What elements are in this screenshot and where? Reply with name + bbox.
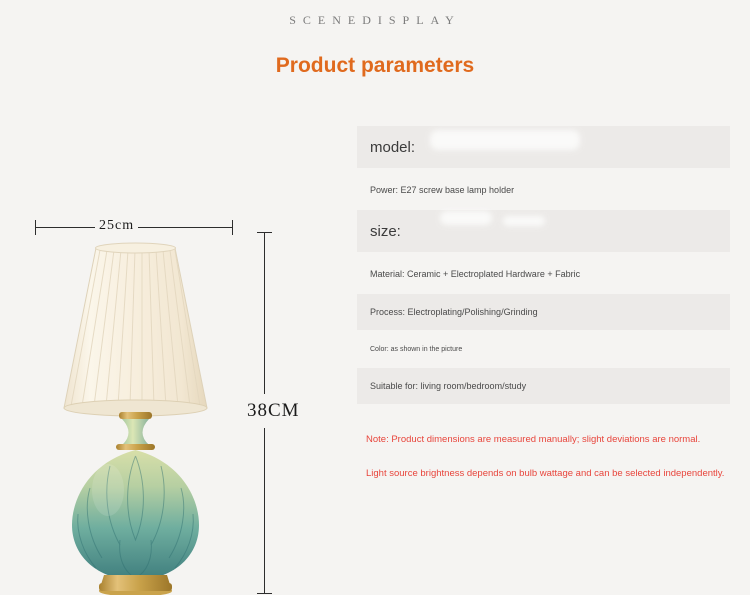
- masked-size-value-2: [503, 216, 545, 226]
- masked-model-value: [430, 130, 580, 150]
- param-label-suitable-for: Suitable for: living room/bedroom/study: [370, 381, 526, 391]
- page-title: Product parameters: [0, 54, 750, 78]
- param-row-material: Material: Ceramic + Electroplated Hardwa…: [357, 256, 730, 292]
- param-row-process: Process: Electroplating/Polishing/Grindi…: [357, 294, 730, 330]
- masked-size-value-1: [440, 211, 492, 225]
- parameter-list: model: Power: E27 screw base lamp holder…: [357, 126, 730, 404]
- note-brightness: Light source brightness depends on bulb …: [366, 468, 724, 479]
- param-label-size: size:: [370, 223, 401, 240]
- height-dimension-label: 38CM: [245, 394, 302, 428]
- param-label-process: Process: Electroplating/Polishing/Grindi…: [370, 307, 538, 317]
- param-row-color: Color: as shown in the picture: [357, 332, 730, 366]
- note-measurement: Note: Product dimensions are measured ma…: [366, 434, 700, 445]
- brand-header: SCENEDISPLAY: [0, 13, 750, 28]
- param-label-model: model:: [370, 139, 415, 156]
- param-row-power: Power: E27 screw base lamp holder: [357, 172, 730, 208]
- width-dimension-label: 25cm: [95, 218, 138, 234]
- table-lamp-illustration: [38, 240, 233, 595]
- param-label-color: Color: as shown in the picture: [370, 346, 462, 353]
- lamp-image-panel: 25cm 38CM: [0, 100, 330, 520]
- width-dimension: 25cm: [35, 218, 233, 238]
- height-dimension-cap-top: [257, 232, 272, 233]
- param-label-power: Power: E27 screw base lamp holder: [370, 185, 514, 195]
- param-label-material: Material: Ceramic + Electroplated Hardwa…: [370, 269, 580, 279]
- height-dimension-cap-bottom: [257, 593, 272, 594]
- param-row-suitable-for: Suitable for: living room/bedroom/study: [357, 368, 730, 404]
- width-dimension-cap-left: [35, 220, 36, 235]
- width-dimension-cap-right: [232, 220, 233, 235]
- param-row-size: size:: [357, 210, 730, 252]
